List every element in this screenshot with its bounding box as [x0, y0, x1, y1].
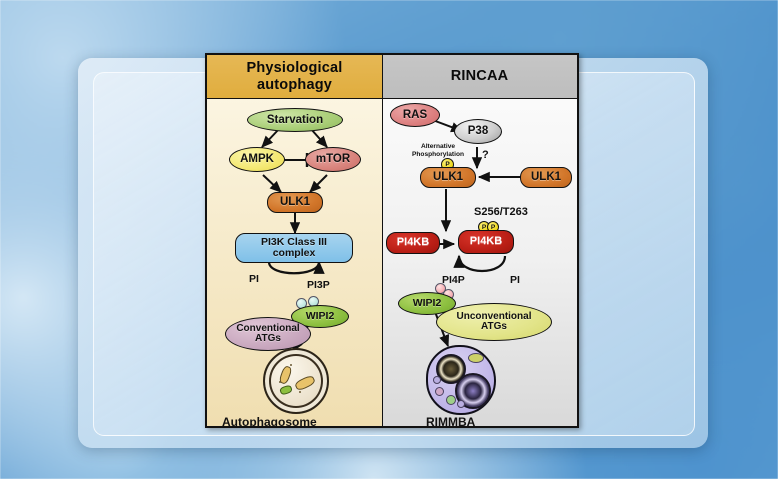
- label-pi-left: PI: [249, 273, 259, 285]
- annotation-text: ?: [482, 149, 489, 161]
- panel-header-physiological-autophagy: Physiological autophagy: [207, 55, 382, 99]
- annotation-text: S256/T263: [474, 206, 528, 218]
- node-ulk1[interactable]: ULK1: [267, 192, 323, 213]
- organelle: [457, 400, 465, 408]
- node-label: RAS: [403, 109, 427, 121]
- annotation-text: PI: [510, 274, 520, 286]
- node-label-line-2: ATGs: [456, 322, 531, 333]
- label-pi4p: PI4P: [442, 274, 465, 286]
- panel-physiological-autophagy: Physiological autophagy: [207, 55, 382, 426]
- header-line-2: autophagy: [246, 77, 342, 93]
- node-label: Starvation: [267, 114, 323, 126]
- label-autophagosome: Autophagosome: [222, 415, 317, 428]
- node-label: PI4KB: [397, 237, 429, 249]
- label-question-mark: ?: [482, 149, 489, 161]
- cargo-particle: [279, 384, 293, 395]
- organelle: [446, 395, 456, 405]
- structure-label-text: Autophagosome: [222, 415, 317, 428]
- node-p38[interactable]: P38: [454, 119, 502, 144]
- node-label: AMPK: [240, 153, 274, 165]
- structure-label-text: RIMMBA: [426, 415, 475, 428]
- node-ulk1-source[interactable]: ULK1: [520, 167, 572, 188]
- node-label: PI4KB: [470, 236, 502, 248]
- header-line-1: Physiological: [246, 60, 342, 76]
- node-starvation[interactable]: Starvation: [247, 108, 343, 132]
- edge-label-text: PI: [249, 273, 259, 285]
- node-label: WIPI2: [413, 298, 442, 309]
- label-rimmba: RIMMBA: [426, 415, 475, 428]
- panel-rincaa: RINCAA RAS P38: [382, 55, 577, 426]
- node-label: P38: [468, 125, 488, 137]
- node-label: ULK1: [280, 196, 310, 208]
- node-label-line-2: complex: [261, 248, 327, 259]
- node-pi3k-complex[interactable]: PI3K Class III complex: [235, 233, 353, 263]
- node-label: ULK1: [433, 171, 463, 183]
- panel-divider: [382, 55, 383, 426]
- annotation-line-1: Alternative: [396, 143, 480, 151]
- node-label: mTOR: [316, 153, 350, 165]
- node-pi4kb-source[interactable]: PI4KB: [386, 232, 440, 254]
- node-ulk1-phosphorylated[interactable]: ULK1: [420, 167, 476, 188]
- organelle: [433, 376, 441, 384]
- node-ampk[interactable]: AMPK: [229, 147, 285, 172]
- cargo-speck: [299, 391, 301, 393]
- cargo-speck: [290, 364, 292, 366]
- annotation-line-2: Phosphorylation: [396, 151, 480, 159]
- node-mtor[interactable]: mTOR: [305, 147, 361, 172]
- node-label: ULK1: [531, 171, 561, 183]
- node-label: WIPI2: [306, 311, 335, 322]
- node-ras[interactable]: RAS: [390, 103, 440, 127]
- node-conventional-atgs[interactable]: Conventional ATGs: [225, 317, 311, 351]
- node-unconventional-atgs[interactable]: Unconventional ATGs: [436, 303, 552, 341]
- header-text: RINCAA: [451, 68, 509, 84]
- label-pi-right: PI: [510, 274, 520, 286]
- autophagosome-vesicle: [263, 348, 329, 414]
- label-phospho-sites: S256/T263: [474, 206, 528, 218]
- organelle: [435, 387, 444, 396]
- annotation-text: PI4P: [442, 274, 465, 286]
- rimmba-vesicle: [426, 345, 496, 415]
- edge-label-text: PI3P: [307, 279, 330, 291]
- label-alternative-phosphorylation: Alternative Phosphorylation: [396, 143, 480, 158]
- label-pi3p-left: PI3P: [307, 279, 330, 291]
- node-pi4kb-phosphorylated[interactable]: PI4KB: [458, 230, 514, 254]
- organelle: [468, 353, 484, 363]
- pathway-figure: Physiological autophagy: [205, 53, 579, 428]
- panel-header-rincaa: RINCAA: [382, 55, 577, 99]
- node-label-line-2: ATGs: [236, 334, 299, 345]
- cargo-particle: [294, 374, 316, 392]
